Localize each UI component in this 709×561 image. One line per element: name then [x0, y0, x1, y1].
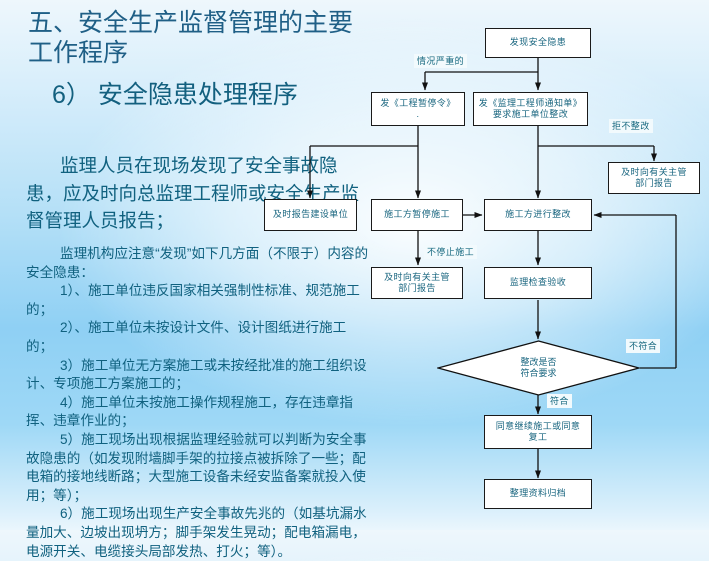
flow-node-label: 施工方暂停施工	[382, 209, 452, 221]
flow-node-archive-documents[interactable]: 整理资料归档	[484, 479, 592, 509]
flow-node-label: 发《工程暂停令》 .	[378, 98, 457, 121]
flow-node-label: 同意继续施工或同意 复工	[494, 421, 583, 444]
flow-node-label: 及时向有关主管 部门报告	[619, 167, 689, 190]
flow-node-decision-rectify-ok[interactable]: 整改是否 符合要求	[437, 340, 640, 396]
flow-node-label: 监理检查验收	[508, 277, 568, 289]
flow-node-agree-resume-work[interactable]: 同意继续施工或同意 复工	[484, 415, 592, 449]
flow-edge-label-conform: 符合	[547, 394, 572, 408]
flow-node-issue-engineer-notice[interactable]: 发《监理工程师通知单》 要求施工单位整改	[473, 92, 588, 126]
flow-node-label: 施工方进行整改	[503, 209, 573, 221]
flow-edge-label-not-conform: 不符合	[626, 339, 660, 353]
flow-node-discover-hazard[interactable]: 发现安全隐患	[485, 28, 591, 58]
flow-node-report-owner[interactable]: 及时报告建设单位	[264, 199, 357, 231]
flow-node-label: 及时报告建设单位	[271, 209, 350, 221]
flow-node-label: 整理资料归档	[508, 488, 568, 500]
flow-node-contractor-rectify[interactable]: 施工方进行整改	[484, 199, 592, 231]
flow-edge-label-serious-case: 情况严重的	[414, 54, 467, 68]
flow-edge-label-refuse-rectify: 拒不整改	[609, 119, 653, 133]
flowchart-connectors	[0, 0, 709, 530]
flow-node-report-authority-top[interactable]: 及时向有关主管 部门报告	[608, 162, 700, 194]
flow-node-report-authority-bottom[interactable]: 及时向有关主管 部门报告	[371, 267, 463, 299]
flow-node-label: 发现安全隐患	[508, 37, 568, 49]
flow-edge-label-not-stop-work: 不停止施工	[424, 245, 477, 259]
flow-node-label: 发《监理工程师通知单》 要求施工单位整改	[477, 98, 584, 121]
flow-node-contractor-suspend[interactable]: 施工方暂停施工	[371, 199, 463, 231]
flow-node-issue-suspension-order[interactable]: 发《工程暂停令》 .	[371, 92, 465, 126]
safety-hazard-flowchart: 发现安全隐患 发《工程暂停令》 . 发《监理工程师通知单》 要求施工单位整改 及…	[0, 0, 709, 530]
flow-node-supervision-inspection[interactable]: 监理检查验收	[484, 267, 592, 299]
flow-node-label: 及时向有关主管 部门报告	[382, 272, 452, 295]
flow-node-label: 整改是否 符合要求	[437, 340, 640, 396]
